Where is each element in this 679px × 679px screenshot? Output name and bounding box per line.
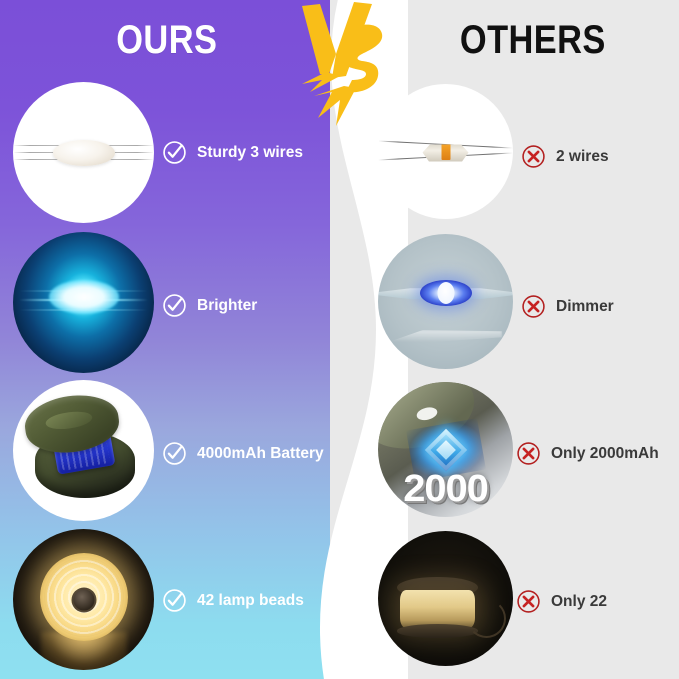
ours-image-three-wires [13, 82, 154, 223]
lantern-power-button [71, 587, 96, 612]
led-chip-amber [441, 144, 450, 160]
others-image-chip-2000: 2000 [378, 382, 513, 517]
others-feature-label-0: 2 wires [556, 148, 609, 166]
ours-feature-1: Brighter [162, 293, 257, 318]
ours-feature-label-0: Sturdy 3 wires [197, 144, 303, 162]
cross-circle-icon [521, 144, 546, 169]
ours-feature-label-2: 4000mAh Battery [197, 445, 324, 463]
ours-feature-3: 42 lamp beads [162, 588, 304, 613]
check-circle-icon [162, 441, 187, 466]
others-feature-label-3: Only 22 [551, 593, 607, 611]
others-feature-label-1: Dimmer [556, 298, 614, 316]
led-bead-white [53, 140, 115, 166]
others-feature-1: Dimmer [521, 294, 614, 319]
others-feature-label-2: Only 2000mAh [551, 445, 659, 463]
dim-lantern-body [400, 590, 476, 628]
comparison-infographic: OURS OTHERS [0, 0, 679, 679]
others-feature-0: 2 wires [521, 144, 609, 169]
ours-feature-2: 4000mAh Battery [162, 441, 324, 466]
others-image-dim-led [378, 234, 513, 369]
ours-feature-label-1: Brighter [197, 297, 257, 315]
cross-circle-icon [516, 441, 541, 466]
ours-feature-label-3: 42 lamp beads [197, 592, 304, 610]
ours-feature-0: Sturdy 3 wires [162, 140, 303, 165]
ours-image-battery-lantern [13, 380, 154, 521]
glow-core [49, 280, 119, 314]
dim-led-core [420, 280, 472, 306]
ours-image-bright-led [13, 232, 154, 373]
others-feature-3: Only 22 [516, 589, 607, 614]
check-circle-icon [162, 293, 187, 318]
check-circle-icon [162, 140, 187, 165]
check-circle-icon [162, 588, 187, 613]
others-image-two-wires [378, 84, 513, 219]
heading-others: OTHERS [460, 18, 606, 63]
heading-ours: OURS [116, 18, 217, 63]
cross-circle-icon [521, 294, 546, 319]
others-feature-2: Only 2000mAh [516, 441, 659, 466]
cross-circle-icon [516, 589, 541, 614]
lantern-cord [467, 599, 506, 638]
others-image-dim-lantern [378, 531, 513, 666]
overlay-text-2000: 2000 [378, 468, 513, 511]
ours-image-lamp-beads [13, 529, 154, 670]
